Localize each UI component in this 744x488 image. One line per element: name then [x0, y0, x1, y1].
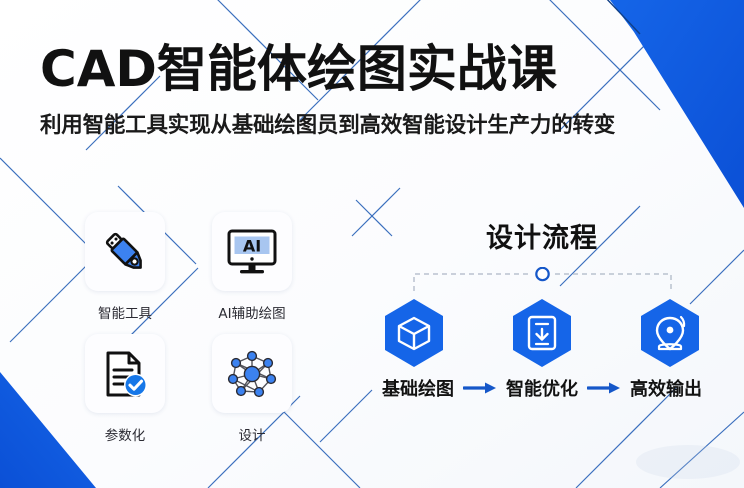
hexagon-badge[interactable] [509, 297, 575, 369]
poster-canvas: CAD智能体绘图实战课 利用智能工具实现从基础绘图员到高效智能设计生产力的转变 … [0, 0, 744, 488]
flow-bracket-svg [410, 267, 675, 293]
poster-header: CAD智能体绘图实战课 利用智能工具实现从基础绘图员到高效智能设计生产力的转变 [40, 42, 710, 139]
feature-tile[interactable] [85, 334, 165, 413]
feature-card-label: 参数化 [105, 424, 146, 444]
feature-tile[interactable] [212, 334, 292, 413]
document-check-icon [99, 348, 151, 400]
feature-card-label: 智能工具 [98, 302, 152, 322]
watermark-smudge [636, 445, 740, 479]
flow-bracket [410, 267, 675, 293]
pen-nib-icon [99, 226, 151, 278]
page-subtitle: 利用智能工具实现从基础绘图员到高效智能设计生产力的转变 [40, 108, 710, 139]
arrow-right-icon-2 [587, 381, 621, 395]
flow-step-efficient-output[interactable] [637, 297, 703, 369]
feature-card-design[interactable]: 设计 [212, 334, 292, 444]
feature-card-label: 设计 [239, 424, 266, 444]
monitor-ai-icon: AI [225, 227, 279, 277]
feature-card-grid: 智能工具 AI AI辅助绘图 [85, 212, 292, 444]
page-title: CAD智能体绘图实战课 [40, 42, 710, 96]
feature-card-ai-drafting[interactable]: AI AI辅助绘图 [212, 212, 292, 322]
feature-card-parametric[interactable]: 参数化 [85, 334, 165, 444]
feature-tile[interactable] [85, 212, 165, 291]
flow-label-row: 基础绘图 智能优化 高效输出 [352, 375, 732, 401]
flow-step-label-3: 高效输出 [630, 375, 702, 401]
flow-step-label-1: 基础绘图 [382, 375, 454, 401]
hexagon-badge[interactable] [381, 297, 447, 369]
flow-step-label-2: 智能优化 [506, 375, 578, 401]
corner-wedge-bottom-left [0, 372, 96, 488]
feature-card-label: AI辅助绘图 [218, 302, 285, 322]
feature-tile[interactable]: AI [212, 212, 292, 291]
flow-step-basic-drafting[interactable] [381, 297, 447, 369]
flow-title: 设计流程 [352, 216, 732, 255]
svg-text:AI: AI [243, 236, 261, 255]
flow-node-row [381, 297, 703, 369]
flow-step-smart-optimization[interactable] [509, 297, 575, 369]
arrow-right-icon-1 [463, 381, 497, 395]
network-nodes-icon [225, 348, 279, 400]
hexagon-badge[interactable] [637, 297, 703, 369]
flow-bracket-node [536, 268, 548, 280]
feature-card-smart-tools[interactable]: 智能工具 [85, 212, 165, 322]
design-flow-panel: 设计流程 [352, 216, 732, 401]
wedge-edge-line [604, 0, 640, 34]
